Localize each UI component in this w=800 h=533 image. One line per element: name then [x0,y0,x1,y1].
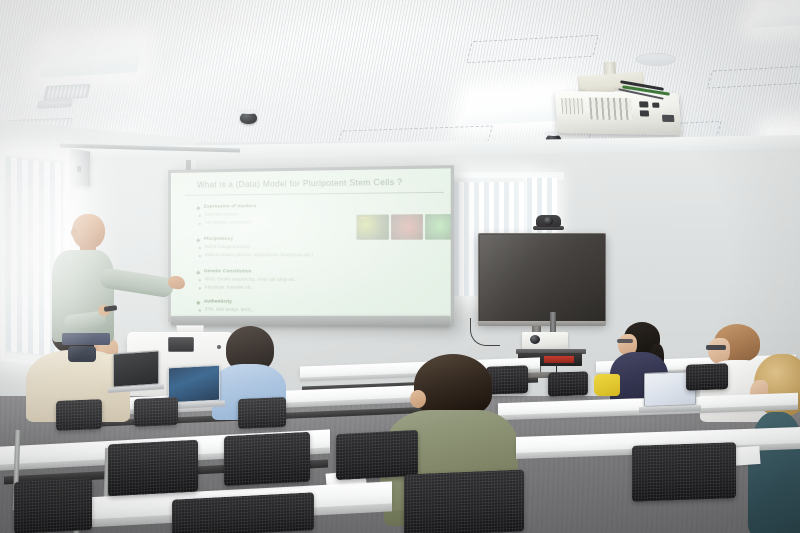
projector-vent-grill [589,97,632,120]
lecture-room-scene: What is a (Data) Model for Pluripotent S… [0,0,800,533]
chair[interactable] [548,371,588,396]
slide-bullet-text: Karyotype, Karyolite etc. [205,284,253,290]
presenter [28,205,178,345]
projector-port [639,101,648,107]
ceiling-air-vent [43,84,91,100]
projection-screen: What is a (Data) Model for Pluripotent S… [168,165,454,327]
chair[interactable] [686,363,728,390]
presentation-clicker[interactable] [104,305,118,312]
chair[interactable] [172,492,314,533]
flat-panel-display [478,233,606,323]
slide-bullet-text: Direct biological assays [205,244,251,249]
chair[interactable] [632,442,736,502]
hair [414,354,492,416]
equipment-red-panel [544,356,574,363]
slide-sub-dot [199,223,201,225]
projector-port [652,103,659,108]
slide-bullet-text: Indirect assays (plurinet, epipluriscore… [205,252,313,257]
slide-heading: Authenticity [204,298,232,303]
trousers [62,333,110,345]
chair[interactable] [14,478,92,533]
projection-screen-surface: What is a (Data) Model for Pluripotent S… [171,168,451,323]
slide-bullet-text: STR, SNP arrays, WGS... [205,307,255,313]
slide-sub-dot [199,247,201,249]
slide-sub-dot [199,215,201,217]
slide-sub-dot [199,309,201,311]
glasses-icon [706,345,726,350]
microscopy-label: Nanog [360,216,370,220]
chair[interactable] [238,397,286,429]
slide-title-rule [185,192,444,196]
microscopy-panel [391,214,423,239]
slide-sub-dot [199,287,201,289]
collar [68,346,96,362]
dome-camera-icon [240,112,257,124]
display-cable [470,318,500,346]
slide-heading: Genetic Constitution [204,268,252,273]
camera-lens-icon [544,217,553,225]
microscopy-image-strip [356,214,450,240]
chair[interactable] [336,430,418,480]
ear [410,390,426,408]
microscopy-panel [425,214,451,240]
slide-bullet-marker [196,301,200,305]
slide-heading: Expression of markers [204,203,256,209]
slide-bullet-text: WGS, Exome sequencing, Array cgh array e… [205,276,296,282]
slide-bullet-marker [196,238,200,242]
ear [71,228,77,237]
projector-port [662,115,674,122]
wall-speaker-port [77,166,81,173]
chair[interactable] [134,397,178,427]
ceiling-projector [556,62,684,140]
slide-bullet-text: Any marker combination [205,220,252,225]
screen-bottom-weight-bar [171,316,450,326]
projector-lens-icon [530,335,540,344]
projector-port [640,110,649,116]
slide-bullet-marker [196,271,200,275]
ceiling-light-panel [40,36,145,78]
slide-bullet-text: Selected markers [205,211,239,216]
laptop-1-screen[interactable] [113,350,159,387]
chair[interactable] [108,440,198,497]
projector-vent-grill [561,98,584,114]
slide-sub-dot [199,279,201,281]
slide-bullet-marker [196,206,200,210]
slide-title: What is a (Data) Model for Pluripotent S… [197,177,442,190]
portable-projector [522,332,568,349]
chair[interactable] [56,399,102,431]
chair[interactable] [404,469,524,533]
slide-heading: Pluripotency [204,236,233,241]
chair[interactable] [224,432,310,487]
yellow-jacket [594,374,620,396]
ceiling-light-panel [461,88,566,126]
glasses-icon [617,339,633,343]
slide-sub-dot [199,255,201,257]
ceiling-light-panel [753,0,800,28]
